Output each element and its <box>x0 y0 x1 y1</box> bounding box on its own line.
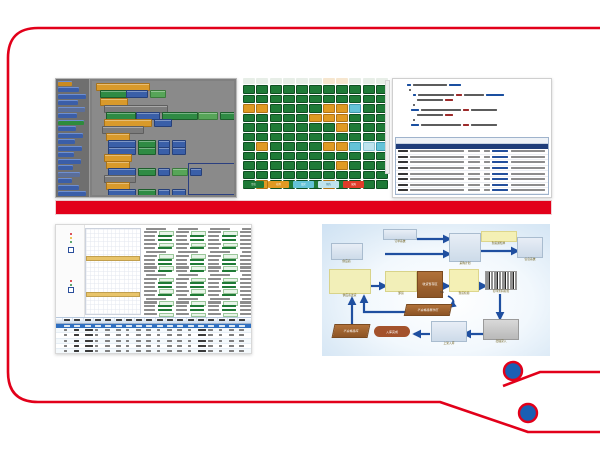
palette-block[interactable] <box>58 178 72 183</box>
grid-cell[interactable] <box>309 171 321 179</box>
grid-cell[interactable] <box>323 85 335 93</box>
table-row[interactable] <box>56 349 251 354</box>
palette-block[interactable] <box>58 165 73 170</box>
table-cell[interactable] <box>177 340 182 342</box>
table-cell[interactable] <box>219 340 222 342</box>
palette-block[interactable] <box>58 185 79 190</box>
table-cell[interactable] <box>64 350 67 352</box>
grid-cell[interactable] <box>256 114 268 122</box>
workspace-block[interactable] <box>172 168 188 176</box>
status-grid-cells[interactable] <box>243 78 388 189</box>
table-cell[interactable] <box>74 340 79 342</box>
selected-cell[interactable] <box>229 325 235 327</box>
grid-cell[interactable] <box>243 161 255 169</box>
table-cell[interactable] <box>136 334 141 336</box>
grid-cell[interactable] <box>349 114 361 122</box>
flow-node-reject-area[interactable]: 不合格品暂存区 <box>406 304 450 316</box>
table-cell[interactable] <box>239 329 244 331</box>
grid-cell[interactable] <box>256 85 268 93</box>
code-editor-panel[interactable] <box>392 78 552 198</box>
column-header-label[interactable] <box>136 319 142 321</box>
grid-cell[interactable] <box>243 114 255 122</box>
table-cell[interactable] <box>229 345 234 347</box>
table-cell[interactable] <box>229 334 234 336</box>
table-cell[interactable] <box>116 340 121 342</box>
palette-block[interactable] <box>58 81 72 86</box>
grid-cell[interactable] <box>309 104 321 112</box>
selected-cell[interactable] <box>126 325 132 327</box>
grid-cell[interactable] <box>336 85 348 93</box>
grid-cell[interactable] <box>270 114 282 122</box>
selected-cell[interactable] <box>177 325 183 327</box>
table-cell[interactable] <box>64 345 67 347</box>
table-cell[interactable] <box>198 340 206 342</box>
grid-cell[interactable] <box>323 152 335 160</box>
table-cell[interactable] <box>198 329 206 331</box>
logistics-flow-panel[interactable]: 供应商订单系统采购计划到货通知单信息系统供应商送货卸货收货暂存区到货检验打印条码… <box>322 224 550 356</box>
workspace-block[interactable] <box>138 168 156 176</box>
selected-cell[interactable] <box>167 325 173 327</box>
grid-cell[interactable] <box>309 152 321 160</box>
table-cell[interactable] <box>177 350 182 352</box>
grid-cell[interactable] <box>296 123 308 131</box>
grid-cell[interactable] <box>363 78 375 84</box>
selected-cell[interactable] <box>219 325 225 327</box>
table-cell[interactable] <box>219 350 222 352</box>
grid-cell[interactable] <box>309 133 321 141</box>
grid-cell[interactable] <box>336 133 348 141</box>
table-cell[interactable] <box>157 340 160 342</box>
palette-block[interactable] <box>58 152 74 157</box>
selected-cell[interactable] <box>188 325 194 327</box>
table-cell[interactable] <box>188 345 191 347</box>
table-cell[interactable] <box>116 350 121 352</box>
table-cell[interactable] <box>146 350 151 352</box>
grid-cell[interactable] <box>270 171 282 179</box>
table-cell[interactable] <box>239 334 244 336</box>
grid-cell[interactable] <box>323 95 335 103</box>
palette-block[interactable] <box>58 100 78 105</box>
grid-cell[interactable] <box>349 95 361 103</box>
grid-cell[interactable] <box>296 114 308 122</box>
flow-node-notice[interactable]: 到货通知单 <box>482 230 516 246</box>
blocks-canvas[interactable] <box>92 81 234 195</box>
grid-cell[interactable] <box>270 123 282 131</box>
table-cell[interactable] <box>167 329 172 331</box>
table-cell[interactable] <box>95 329 98 331</box>
sheet-data-table[interactable] <box>56 317 251 353</box>
table-cell[interactable] <box>198 334 206 336</box>
grid-cell[interactable] <box>256 104 268 112</box>
grid-cell[interactable] <box>243 142 255 150</box>
column-header-label[interactable] <box>208 319 214 321</box>
selected-cell[interactable] <box>105 325 111 327</box>
blocks-palette[interactable] <box>56 79 90 197</box>
grid-cell[interactable] <box>336 152 348 160</box>
grid-cell[interactable] <box>323 133 335 141</box>
grid-cell[interactable] <box>243 152 255 160</box>
column-header-label[interactable] <box>105 319 111 321</box>
grid-cell[interactable] <box>243 85 255 93</box>
grid-cell[interactable] <box>363 133 375 141</box>
workspace-block[interactable] <box>138 147 156 155</box>
grid-cell[interactable] <box>309 78 321 84</box>
table-cell[interactable] <box>146 345 151 347</box>
grid-cell[interactable] <box>336 142 348 150</box>
grid-cell[interactable] <box>270 152 282 160</box>
sheet-table-header[interactable] <box>56 317 251 324</box>
table-cell[interactable] <box>188 334 191 336</box>
grid-cell[interactable] <box>309 95 321 103</box>
grid-cell[interactable] <box>283 152 295 160</box>
selected-cell[interactable] <box>208 325 214 327</box>
grid-cell[interactable] <box>349 152 361 160</box>
table-cell[interactable] <box>85 345 93 347</box>
table-cell[interactable] <box>229 340 234 342</box>
grid-cell[interactable] <box>256 171 268 179</box>
table-cell[interactable] <box>136 350 141 352</box>
grid-cell[interactable] <box>336 171 348 179</box>
schedule-sheet-panel[interactable] <box>55 224 252 354</box>
sheet-table-body[interactable] <box>56 328 251 354</box>
grid-cell[interactable] <box>283 161 295 169</box>
grid-scrollbar[interactable] <box>385 80 390 174</box>
flow-node-plan-board[interactable]: 采购计划 <box>450 232 480 266</box>
grid-cell[interactable] <box>296 152 308 160</box>
grid-cell[interactable] <box>270 85 282 93</box>
workspace-block[interactable] <box>172 147 186 155</box>
table-cell[interactable] <box>219 345 222 347</box>
table-cell[interactable] <box>146 329 151 331</box>
table-cell[interactable] <box>126 340 129 342</box>
flow-node-done[interactable]: 入库完成 <box>374 326 410 337</box>
console-log-rows[interactable] <box>396 149 548 195</box>
table-cell[interactable] <box>116 334 121 336</box>
table-cell[interactable] <box>105 334 110 336</box>
grid-cell[interactable] <box>363 161 375 169</box>
palette-block[interactable] <box>58 146 82 151</box>
table-cell[interactable] <box>74 334 79 336</box>
grid-cell[interactable] <box>323 161 335 169</box>
table-cell[interactable] <box>116 329 121 331</box>
selected-cell[interactable] <box>146 325 152 327</box>
column-header-label[interactable] <box>146 319 152 321</box>
column-header-label[interactable] <box>126 319 132 321</box>
gantt-grid[interactable] <box>85 228 141 315</box>
table-cell[interactable] <box>157 350 160 352</box>
grid-cell[interactable] <box>363 114 375 122</box>
palette-block[interactable] <box>58 94 86 99</box>
grid-cell[interactable] <box>296 161 308 169</box>
grid-cell[interactable] <box>270 142 282 150</box>
selected-cell[interactable] <box>64 325 70 327</box>
grid-cell[interactable] <box>283 114 295 122</box>
status-grid-panel[interactable] <box>243 78 388 176</box>
grid-cell[interactable] <box>296 78 308 84</box>
table-cell[interactable] <box>229 329 234 331</box>
grid-cell[interactable] <box>336 78 348 84</box>
grid-cell[interactable] <box>336 104 348 112</box>
grid-cell[interactable] <box>363 85 375 93</box>
table-cell[interactable] <box>95 350 98 352</box>
flow-node-receiving[interactable]: 收货暂存区 <box>418 266 442 298</box>
grid-cell[interactable] <box>349 78 361 84</box>
flow-node-unload[interactable]: 卸货 <box>386 270 416 296</box>
resource-token[interactable] <box>68 287 74 293</box>
table-cell[interactable] <box>126 345 129 347</box>
grid-cell[interactable] <box>296 95 308 103</box>
palette-block[interactable] <box>58 120 84 125</box>
grid-cell[interactable] <box>283 78 295 84</box>
grid-cell[interactable] <box>363 95 375 103</box>
column-header-label[interactable] <box>219 319 225 321</box>
grid-cell[interactable] <box>336 114 348 122</box>
palette-block[interactable] <box>58 159 81 164</box>
table-cell[interactable] <box>177 345 182 347</box>
flow-node-label-print[interactable]: 打印条码标签 <box>486 270 516 294</box>
selected-cell[interactable] <box>198 325 204 327</box>
table-cell[interactable] <box>219 329 222 331</box>
grid-cell[interactable] <box>243 123 255 131</box>
table-cell[interactable] <box>167 340 172 342</box>
grid-cell[interactable] <box>283 133 295 141</box>
column-header-label[interactable] <box>239 319 245 321</box>
grid-cell[interactable] <box>309 142 321 150</box>
selected-cell[interactable] <box>85 325 91 327</box>
grid-cell[interactable] <box>349 123 361 131</box>
table-cell[interactable] <box>167 345 172 347</box>
table-cell[interactable] <box>126 334 129 336</box>
palette-block[interactable] <box>58 87 79 92</box>
grid-cell[interactable] <box>349 161 361 169</box>
grid-cell[interactable] <box>363 171 375 179</box>
table-cell[interactable] <box>208 340 213 342</box>
code-text-area[interactable] <box>393 79 551 135</box>
table-cell[interactable] <box>126 329 129 331</box>
grid-cell[interactable] <box>323 104 335 112</box>
grid-cell[interactable] <box>270 104 282 112</box>
table-cell[interactable] <box>95 340 98 342</box>
table-cell[interactable] <box>126 350 129 352</box>
table-cell[interactable] <box>208 334 213 336</box>
table-cell[interactable] <box>177 334 182 336</box>
table-cell[interactable] <box>188 350 191 352</box>
grid-cell[interactable] <box>283 123 295 131</box>
palette-block[interactable] <box>58 126 76 131</box>
workspace-block[interactable] <box>220 112 234 120</box>
grid-cell[interactable] <box>296 85 308 93</box>
table-cell[interactable] <box>105 345 110 347</box>
grid-cell[interactable] <box>243 133 255 141</box>
table-cell[interactable] <box>64 329 67 331</box>
table-cell[interactable] <box>239 340 244 342</box>
selected-cell[interactable] <box>116 325 122 327</box>
grid-cell[interactable] <box>256 95 268 103</box>
column-header-label[interactable] <box>167 319 173 321</box>
table-cell[interactable] <box>198 350 206 352</box>
grid-cell[interactable] <box>363 152 375 160</box>
palette-block[interactable] <box>58 133 83 138</box>
palette-block[interactable] <box>58 172 80 177</box>
grid-cell[interactable] <box>363 104 375 112</box>
column-header-label[interactable] <box>116 319 122 321</box>
gantt-bar[interactable] <box>86 256 140 261</box>
grid-cell[interactable] <box>243 104 255 112</box>
grid-cell[interactable] <box>243 78 255 84</box>
grid-cell[interactable] <box>256 161 268 169</box>
table-cell[interactable] <box>105 350 110 352</box>
selected-cell[interactable] <box>74 325 80 327</box>
workspace-block[interactable] <box>158 189 170 195</box>
table-cell[interactable] <box>198 345 206 347</box>
workspace-block[interactable] <box>158 147 170 155</box>
workspace-block[interactable] <box>138 189 156 195</box>
table-cell[interactable] <box>74 345 79 347</box>
table-cell[interactable] <box>105 329 110 331</box>
grid-cell[interactable] <box>256 152 268 160</box>
column-header-label[interactable] <box>157 319 163 321</box>
grid-cell[interactable] <box>270 95 282 103</box>
column-header-label[interactable] <box>85 319 91 321</box>
table-cell[interactable] <box>157 345 160 347</box>
workspace-block[interactable] <box>126 90 148 98</box>
table-cell[interactable] <box>95 334 98 336</box>
grid-cell[interactable] <box>309 114 321 122</box>
table-cell[interactable] <box>64 340 67 342</box>
flow-node-order-system[interactable]: 订单系统 <box>384 228 416 244</box>
grid-cell[interactable] <box>296 133 308 141</box>
selected-cell[interactable] <box>136 325 142 327</box>
grid-cell[interactable] <box>283 104 295 112</box>
grid-cell[interactable] <box>243 95 255 103</box>
selected-cell[interactable] <box>157 325 163 327</box>
table-cell[interactable] <box>85 329 93 331</box>
selected-cell[interactable] <box>95 325 101 327</box>
grid-cell[interactable] <box>270 78 282 84</box>
gantt-bar[interactable] <box>86 292 140 297</box>
grid-cell[interactable] <box>336 123 348 131</box>
grid-cell[interactable] <box>296 104 308 112</box>
table-cell[interactable] <box>105 340 110 342</box>
grid-cell[interactable] <box>309 85 321 93</box>
table-cell[interactable] <box>157 329 160 331</box>
table-cell[interactable] <box>188 340 191 342</box>
palette-block[interactable] <box>58 191 86 196</box>
palette-block[interactable] <box>58 198 78 199</box>
column-header-label[interactable] <box>74 319 80 321</box>
selected-cell[interactable] <box>239 325 245 327</box>
grid-cell[interactable] <box>349 85 361 93</box>
flow-node-inspection[interactable]: 到货检验 <box>450 268 478 296</box>
grid-cell[interactable] <box>283 85 295 93</box>
table-cell[interactable] <box>177 329 182 331</box>
flow-node-erp[interactable]: 信息系统 <box>518 236 542 262</box>
grid-cell[interactable] <box>323 114 335 122</box>
grid-cell[interactable] <box>363 142 375 150</box>
flow-node-reject-store[interactable]: 不合格品库 <box>334 324 368 338</box>
table-cell[interactable] <box>146 340 151 342</box>
table-cell[interactable] <box>239 350 244 352</box>
grid-cell[interactable] <box>256 78 268 84</box>
table-cell[interactable] <box>85 350 93 352</box>
flow-node-transport[interactable]: 供应商送货 <box>330 268 370 298</box>
column-header-label[interactable] <box>198 319 204 321</box>
workspace-block[interactable] <box>108 189 136 195</box>
table-cell[interactable] <box>219 334 222 336</box>
log-console[interactable] <box>395 137 549 195</box>
table-cell[interactable] <box>229 350 234 352</box>
grid-cell[interactable] <box>323 78 335 84</box>
table-cell[interactable] <box>208 350 213 352</box>
grid-cell[interactable] <box>256 123 268 131</box>
table-cell[interactable] <box>239 345 244 347</box>
table-cell[interactable] <box>95 345 98 347</box>
grid-cell[interactable] <box>270 133 282 141</box>
grid-cell[interactable] <box>349 142 361 150</box>
table-cell[interactable] <box>116 345 121 347</box>
table-cell[interactable] <box>136 340 141 342</box>
palette-block[interactable] <box>58 107 85 112</box>
grid-cell[interactable] <box>309 161 321 169</box>
grid-cell[interactable] <box>296 171 308 179</box>
table-cell[interactable] <box>136 345 141 347</box>
table-cell[interactable] <box>85 340 93 342</box>
grid-cell[interactable] <box>270 161 282 169</box>
grid-cell[interactable] <box>256 142 268 150</box>
workspace-block[interactable] <box>190 168 202 176</box>
flow-node-putaway[interactable]: 上架入库 <box>432 320 466 346</box>
resource-token[interactable] <box>68 247 74 253</box>
grid-cell[interactable] <box>283 171 295 179</box>
column-header-label[interactable] <box>229 319 235 321</box>
grid-cell[interactable] <box>323 142 335 150</box>
table-cell[interactable] <box>136 329 141 331</box>
table-cell[interactable] <box>208 345 213 347</box>
grid-cell[interactable] <box>336 161 348 169</box>
table-cell[interactable] <box>146 334 151 336</box>
table-cell[interactable] <box>188 329 191 331</box>
table-cell[interactable] <box>208 329 213 331</box>
table-cell[interactable] <box>167 334 172 336</box>
grid-cell[interactable] <box>349 104 361 112</box>
column-header-label[interactable] <box>177 319 183 321</box>
table-cell[interactable] <box>157 334 160 336</box>
grid-cell[interactable] <box>283 142 295 150</box>
log-row[interactable] <box>396 194 548 195</box>
grid-cell[interactable] <box>283 95 295 103</box>
table-cell[interactable] <box>85 334 93 336</box>
grid-cell[interactable] <box>349 133 361 141</box>
flow-node-supplier[interactable]: 供应商 <box>332 242 362 264</box>
grid-cell[interactable] <box>336 95 348 103</box>
palette-block[interactable] <box>58 113 77 118</box>
workspace-block[interactable] <box>150 90 166 98</box>
workspace-block[interactable] <box>158 168 170 176</box>
column-header-label[interactable] <box>188 319 194 321</box>
grid-cell[interactable] <box>323 171 335 179</box>
workspace-block[interactable] <box>154 119 172 127</box>
grid-cell[interactable] <box>349 171 361 179</box>
grid-cell[interactable] <box>243 171 255 179</box>
workspace-block[interactable] <box>198 112 218 120</box>
table-cell[interactable] <box>167 350 172 352</box>
palette-block[interactable] <box>58 139 75 144</box>
grid-cell[interactable] <box>309 123 321 131</box>
grid-cell[interactable] <box>323 123 335 131</box>
flow-node-scan-in[interactable]: 扫描录入 <box>484 318 518 344</box>
grid-cell[interactable] <box>363 123 375 131</box>
column-header-label[interactable] <box>95 319 101 321</box>
